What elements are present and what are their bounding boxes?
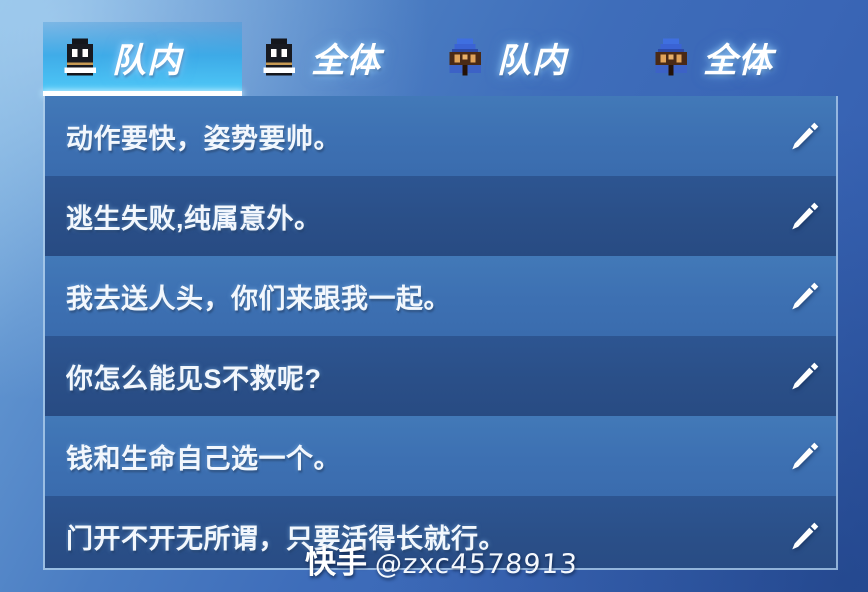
edit-quick-chat-button[interactable] — [774, 336, 836, 416]
quick-chat-text: 我去送人头，你们来跟我一起。 — [66, 277, 774, 316]
dark-helmet-survivor-icon — [258, 36, 300, 78]
tab-label: 队内 — [112, 33, 182, 82]
quick-chat-text: 门开不开无所谓，只要活得长就行。 — [66, 517, 774, 556]
edit-quick-chat-button[interactable] — [774, 176, 836, 256]
quick-chat-text: 钱和生命自己选一个。 — [66, 437, 774, 476]
quick-chat-text: 你怎么能见S不救呢? — [66, 357, 774, 396]
pencil-icon — [788, 199, 822, 233]
quick-chat-text: 逃生失败,纯属意外。 — [66, 197, 774, 236]
blue-cap-hunter-icon — [444, 36, 486, 78]
blue-cap-hunter-icon — [650, 36, 692, 78]
table-row[interactable]: 门开不开无所谓，只要活得长就行。 — [45, 496, 836, 570]
chat-channel-tabbar: 队内 全体 队内 — [43, 22, 838, 96]
tab-team-survivor[interactable]: 队内 — [43, 22, 242, 96]
table-row[interactable]: 我去送人头，你们来跟我一起。 — [45, 256, 836, 336]
dark-helmet-survivor-icon — [59, 36, 101, 78]
tab-all-survivor[interactable]: 全体 — [242, 22, 428, 96]
tab-label: 全体 — [311, 33, 381, 82]
edit-quick-chat-button[interactable] — [774, 416, 836, 496]
pencil-icon — [788, 279, 822, 313]
pencil-icon — [788, 119, 822, 153]
table-row[interactable]: 逃生失败,纯属意外。 — [45, 176, 836, 256]
edit-quick-chat-button[interactable] — [774, 96, 836, 176]
pencil-icon — [788, 359, 822, 393]
table-row[interactable]: 你怎么能见S不救呢? — [45, 336, 836, 416]
tab-label: 队内 — [497, 33, 567, 82]
edit-quick-chat-button[interactable] — [774, 496, 836, 570]
tab-all-hunter[interactable]: 全体 — [634, 22, 838, 96]
quick-chat-list-panel: 动作要快，姿势要帅。 逃生失败,纯属意外。 我去送人头，你们来跟我一起。 你怎么… — [43, 96, 838, 570]
quick-chat-text: 动作要快，姿势要帅。 — [66, 117, 774, 156]
tab-team-hunter[interactable]: 队内 — [428, 22, 634, 96]
pencil-icon — [788, 439, 822, 473]
edit-quick-chat-button[interactable] — [774, 256, 836, 336]
table-row[interactable]: 钱和生命自己选一个。 — [45, 416, 836, 496]
table-row[interactable]: 动作要快，姿势要帅。 — [45, 96, 836, 176]
pencil-icon — [788, 519, 822, 553]
tab-label: 全体 — [703, 33, 773, 82]
